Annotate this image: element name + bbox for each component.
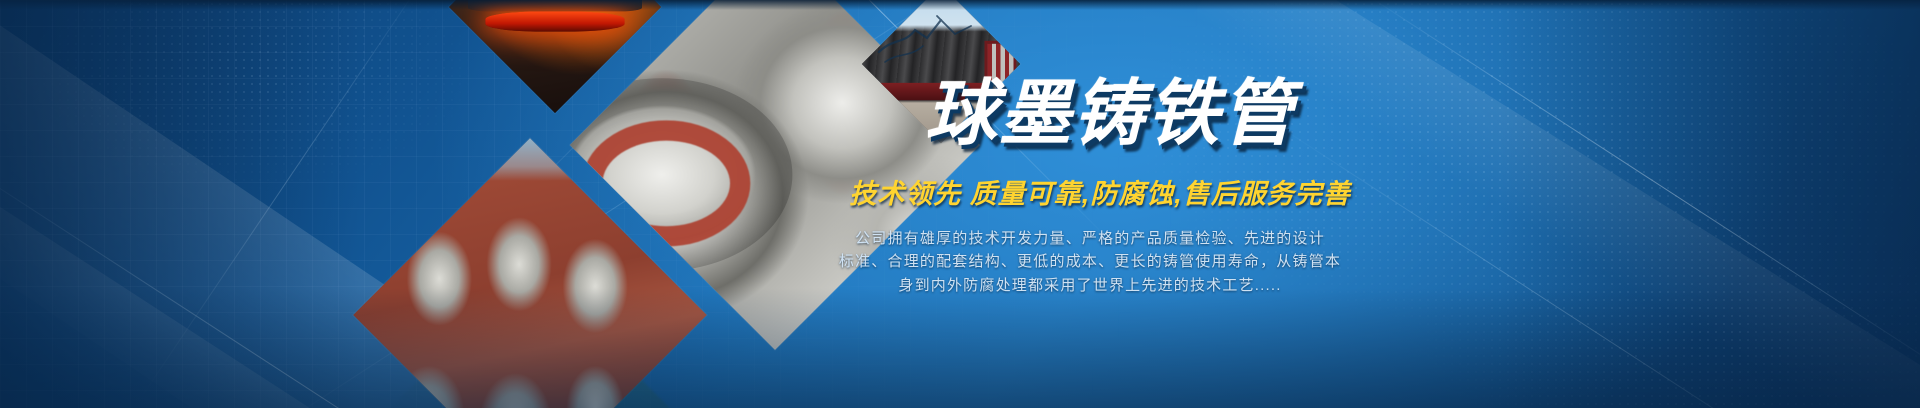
red-pipes-photo [353, 138, 707, 408]
banner-title: 球墨铸铁管 [700, 78, 1480, 150]
banner-description: 公司拥有雄厚的技术开发力量、严格的产品质量检验、先进的设计 标准、合理的配套结构… [700, 227, 1480, 297]
vignette-right [1500, 0, 1920, 408]
description-line-1: 公司拥有雄厚的技术开发力量、严格的产品质量检验、先进的设计 [700, 227, 1480, 250]
furnace-photo [449, 0, 661, 113]
vignette-bottom [0, 288, 1920, 408]
vignette-left [0, 0, 360, 408]
vignette-top [0, 0, 1920, 10]
red-pipes-diamond [353, 138, 707, 408]
banner-subtitle: 技术领先 质量可靠,防腐蚀,售后服务完善 [700, 172, 1480, 211]
light-beam-3 [0, 0, 140, 408]
product-hero-banner: 球墨铸铁管 技术领先 质量可靠,防腐蚀,售后服务完善 公司拥有雄厚的技术开发力量… [0, 0, 1920, 408]
scratch-marks-icon [875, 8, 995, 78]
banner-copy: 球墨铸铁管 技术领先 质量可靠,防腐蚀,售后服务完善 公司拥有雄厚的技术开发力量… [700, 78, 1480, 297]
description-line-2: 标准、合理的配套结构、更低的成本、更长的铸管使用寿命，从铸管本 [700, 250, 1480, 273]
hairline-5 [138, 0, 430, 401]
red-pipes-reflection [353, 268, 707, 408]
description-line-3: 身到内外防腐处理都采用了世界上先进的技术工艺..... [700, 274, 1480, 297]
furnace-diamond [449, 0, 661, 113]
